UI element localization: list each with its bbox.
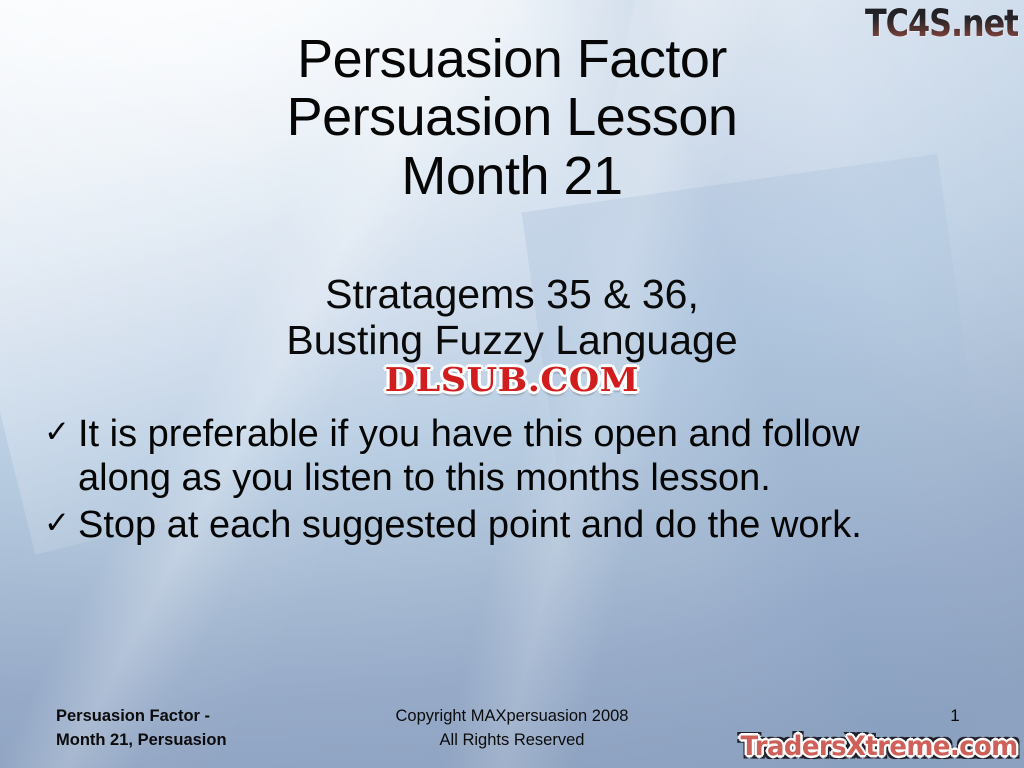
checkmark-icon: ✓: [44, 503, 78, 544]
footer-left-line-1: Persuasion Factor -: [56, 705, 227, 729]
subtitle-line-1: Stratagems 35 & 36,: [0, 272, 1024, 318]
bullet-text-1: It is preferable if you have this open a…: [78, 412, 944, 501]
footer-left: Persuasion Factor - Month 21, Persuasion: [56, 705, 227, 753]
footer-copyright: Copyright MAXpersuasion 2008 All Rights …: [262, 705, 762, 753]
presentation-slide: TC4S.net Persuasion Factor Persuasion Le…: [0, 0, 1024, 768]
dlsub-watermark-container: DLSUB.COM: [0, 360, 1024, 399]
list-item: ✓ Stop at each suggested point and do th…: [44, 503, 944, 547]
list-item: ✓ It is preferable if you have this open…: [44, 412, 944, 501]
title-line-1: Persuasion Factor: [0, 30, 1024, 88]
subtitle-line-2: Busting Fuzzy Language: [0, 318, 1024, 364]
footer-left-line-2: Month 21, Persuasion: [56, 729, 227, 753]
slide-subtitle: Stratagems 35 & 36, Busting Fuzzy Langua…: [0, 272, 1024, 364]
title-line-2: Persuasion Lesson: [0, 88, 1024, 146]
page-number: 1: [930, 706, 980, 726]
slide-title: Persuasion Factor Persuasion Lesson Mont…: [0, 30, 1024, 205]
dlsub-watermark: DLSUB.COM: [385, 360, 639, 399]
checkmark-icon: ✓: [44, 412, 78, 453]
footer-copyright-line-1: Copyright MAXpersuasion 2008: [262, 705, 762, 729]
title-line-3: Month 21: [0, 147, 1024, 205]
footer-copyright-line-2: All Rights Reserved: [262, 729, 762, 753]
tradersxtreme-logo: TradersXtreme.com: [741, 731, 1018, 762]
bullet-list: ✓ It is preferable if you have this open…: [44, 412, 944, 549]
bullet-text-2: Stop at each suggested point and do the …: [78, 503, 944, 547]
